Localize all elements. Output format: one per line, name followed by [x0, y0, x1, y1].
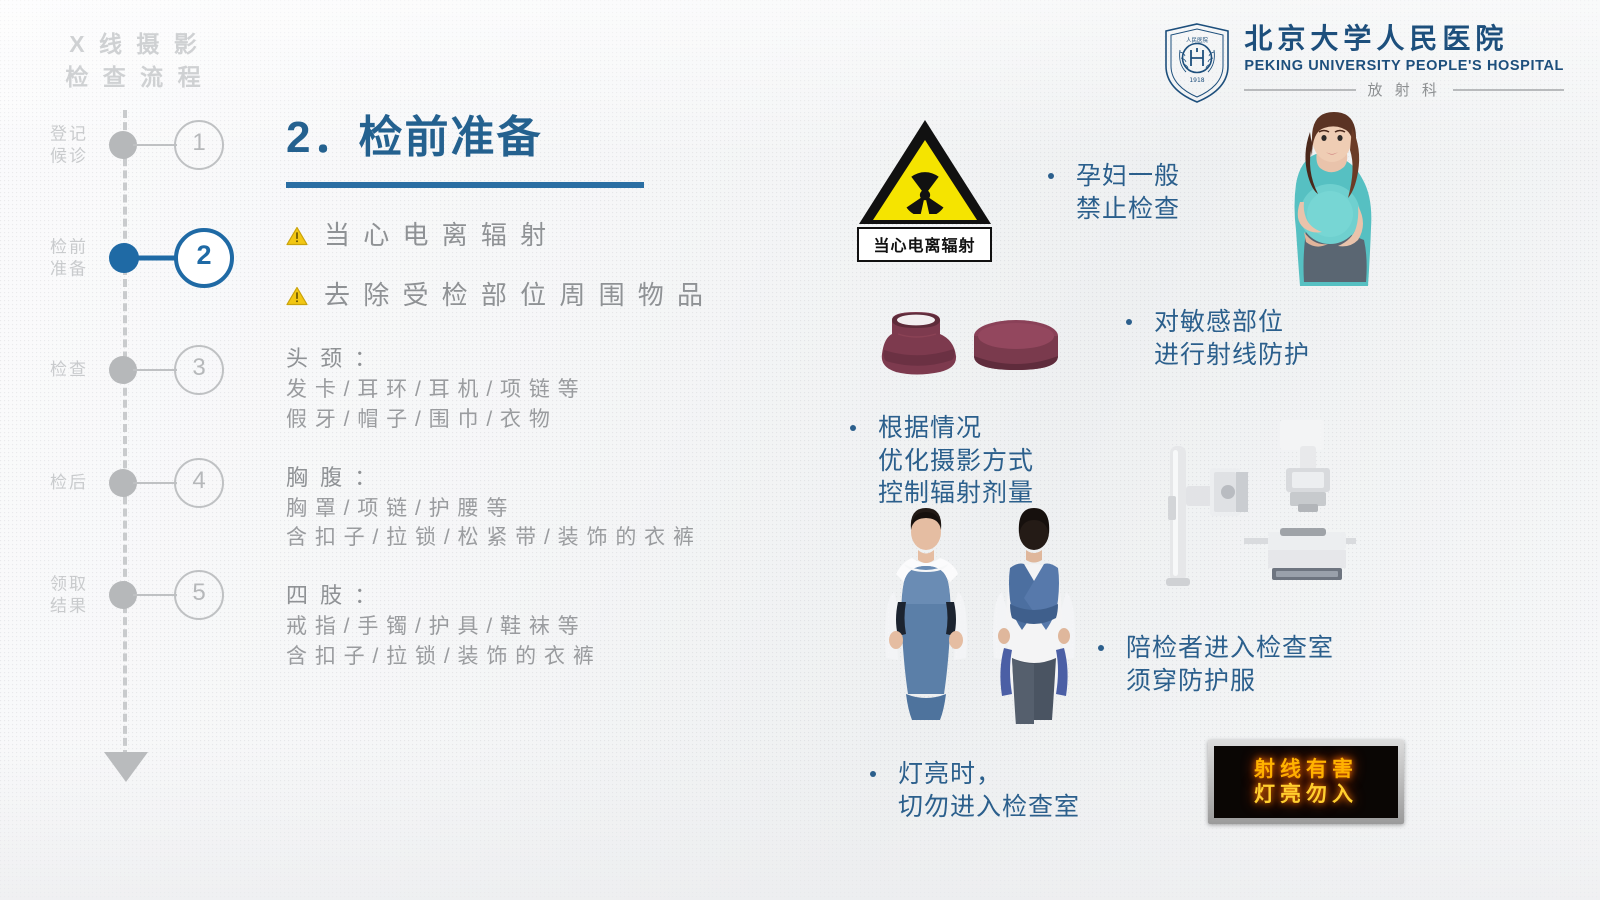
hospital-name-en: PEKING UNIVERSITY PEOPLE'S HOSPITAL — [1244, 59, 1564, 74]
note-bullet — [1048, 173, 1054, 179]
note-bullet — [850, 425, 856, 431]
flow-step-2-label: 检前 准备 — [38, 236, 100, 280]
removal-group-head-neck-line-2: 假 牙 / 帽 子 / 围 巾 / 衣 物 — [286, 405, 806, 435]
lead-apron-front-and-back-photo — [870, 508, 1100, 724]
flow-step-5-number: 5 — [174, 570, 224, 620]
removal-group-head-neck: 头 颈 ： 发 卡 / 耳 环 / 耳 机 / 项 链 等 假 牙 / 帽 子 … — [286, 342, 806, 435]
radiation-sign-caption: 当心电离辐射 — [857, 227, 992, 262]
led-warning-sign: 射线有害 灯亮勿入 — [1208, 740, 1404, 824]
dept-rule-left — [1244, 89, 1355, 91]
flow-step-4-connector — [133, 482, 177, 484]
warning-item-2-text: 去 除 受 检 部 位 周 围 物 品 — [324, 282, 706, 308]
note-pregnant-prohibited: 孕妇一般 禁止检查 — [1048, 160, 1180, 225]
removal-group-head-neck-line-1: 发 卡 / 耳 环 / 耳 机 / 项 链 等 — [286, 375, 806, 405]
removal-group-chest-abdomen-line-1: 胸 罩 / 项 链 / 护 腰 等 — [286, 494, 806, 524]
note-escort-wear-apron-text: 陪检者进入检查室 须穿防护服 — [1126, 632, 1334, 697]
led-line-1: 射线有害 — [1254, 757, 1358, 782]
warning-triangle-icon — [286, 286, 308, 306]
flow-step-4[interactable]: 检后 4 — [0, 455, 262, 511]
flow-down-arrow-icon — [104, 752, 148, 782]
flow-step-4-number: 4 — [174, 458, 224, 508]
led-line-2: 灯亮勿入 — [1254, 782, 1358, 807]
note-bullet — [1126, 319, 1132, 325]
flow-step-2[interactable]: 检前 准备 2 — [0, 230, 262, 286]
flow-step-5-label: 领取 结果 — [38, 573, 100, 617]
removal-group-chest-abdomen-line-2: 含 扣 子 / 拉 锁 / 松 紧 带 / 装 饰 的 衣 裤 — [286, 523, 806, 553]
lead-thyroid-collar-and-gonad-shield — [870, 294, 1070, 384]
flow-step-2-number: 2 — [174, 228, 234, 288]
main-content: 2．检前准备 当 心 电 离 辐 射 去 除 受 检 部 位 周 围 物 品 头… — [286, 112, 806, 698]
note-do-not-enter-when-lit: 灯亮时， 切勿进入检查室 — [870, 758, 1080, 823]
note-sensitive-area-shielding-text: 对敏感部位 进行射线防护 — [1154, 306, 1310, 371]
flow-step-2-connector — [133, 256, 177, 261]
led-screen: 射线有害 灯亮勿入 — [1214, 746, 1398, 818]
flow-rail-dashed-line — [123, 110, 127, 758]
warning-item-2: 去 除 受 检 部 位 周 围 物 品 — [286, 282, 806, 308]
warning-triangle-icon — [286, 226, 308, 246]
flow-step-5[interactable]: 领取 结果 5 — [0, 567, 262, 623]
note-do-not-enter-when-lit-text: 灯亮时， 切勿进入检查室 — [898, 758, 1080, 823]
flow-step-1-label: 登记 候诊 — [38, 123, 100, 167]
xray-wall-stand-and-tube-photo — [1140, 410, 1360, 590]
page-title: 2．检前准备 — [286, 112, 806, 164]
illustration-column: 当心电离辐射 — [840, 104, 1440, 864]
removal-group-chest-abdomen-title: 胸 腹 ： — [286, 461, 806, 494]
process-flow-rail: X 线 摄 影 检 查 流 程 登记 候诊 1 检前 准备 2 检查 3 检后 … — [0, 0, 262, 900]
warning-item-1-text: 当 心 电 离 辐 射 — [324, 222, 549, 248]
removal-group-limbs-line-2: 含 扣 子 / 拉 锁 / 装 饰 的 衣 裤 — [286, 642, 806, 672]
dept-rule-right — [1453, 89, 1564, 91]
hospital-crest-icon: 1918 人民医院 — [1162, 22, 1232, 104]
pregnant-woman-illustration — [1260, 110, 1384, 286]
removal-group-chest-abdomen: 胸 腹 ： 胸 罩 / 项 链 / 护 腰 等 含 扣 子 / 拉 锁 / 松 … — [286, 461, 806, 554]
note-bullet — [870, 771, 876, 777]
svg-text:人民医院: 人民医院 — [1186, 36, 1209, 44]
flow-step-3-number: 3 — [174, 345, 224, 395]
flow-step-1-connector — [133, 144, 177, 146]
note-escort-wear-apron: 陪检者进入检查室 须穿防护服 — [1098, 632, 1334, 697]
removal-group-head-neck-title: 头 颈 ： — [286, 342, 806, 375]
flow-step-1[interactable]: 登记 候诊 1 — [0, 117, 262, 173]
flow-step-3-label: 检查 — [38, 359, 100, 381]
flow-step-1-number: 1 — [174, 120, 224, 170]
removal-group-limbs: 四 肢 ： 戒 指 / 手 镯 / 护 具 / 鞋 袜 等 含 扣 子 / 拉 … — [286, 579, 806, 672]
hospital-logo: 1918 人民医院 北京大学人民医院 PEKING UNIVERSITY PEO… — [1162, 22, 1564, 104]
hospital-name-cn: 北京大学人民医院 — [1244, 26, 1564, 54]
flow-step-5-connector — [133, 594, 177, 596]
note-sensitive-area-shielding: 对敏感部位 进行射线防护 — [1126, 306, 1310, 371]
removal-group-limbs-title: 四 肢 ： — [286, 579, 806, 612]
note-bullet — [1098, 645, 1104, 651]
flow-step-4-label: 检后 — [38, 472, 100, 494]
radiation-trefoil-icon — [899, 164, 951, 214]
note-optimize-technique: 根据情况 优化摄影方式 控制辐射剂量 — [850, 412, 1034, 510]
slide-canvas: X 线 摄 影 检 查 流 程 登记 候诊 1 检前 准备 2 检查 3 检后 … — [0, 0, 1600, 900]
flow-step-3[interactable]: 检查 3 — [0, 342, 262, 398]
hospital-department: 放 射 科 — [1356, 83, 1453, 98]
warning-item-1: 当 心 电 离 辐 射 — [286, 222, 806, 248]
title-underline — [286, 182, 644, 188]
note-optimize-technique-text: 根据情况 优化摄影方式 控制辐射剂量 — [878, 412, 1034, 510]
svg-text:1918: 1918 — [1190, 77, 1205, 84]
flow-rail-title: X 线 摄 影 检 查 流 程 — [50, 28, 220, 93]
note-pregnant-prohibited-text: 孕妇一般 禁止检查 — [1076, 160, 1180, 225]
radiation-triangle — [859, 120, 991, 224]
flow-step-3-connector — [133, 369, 177, 371]
hospital-department-row: 放 射 科 — [1244, 83, 1564, 98]
radiation-warning-sign: 当心电离辐射 — [857, 120, 992, 262]
removal-group-limbs-line-1: 戒 指 / 手 镯 / 护 具 / 鞋 袜 等 — [286, 612, 806, 642]
